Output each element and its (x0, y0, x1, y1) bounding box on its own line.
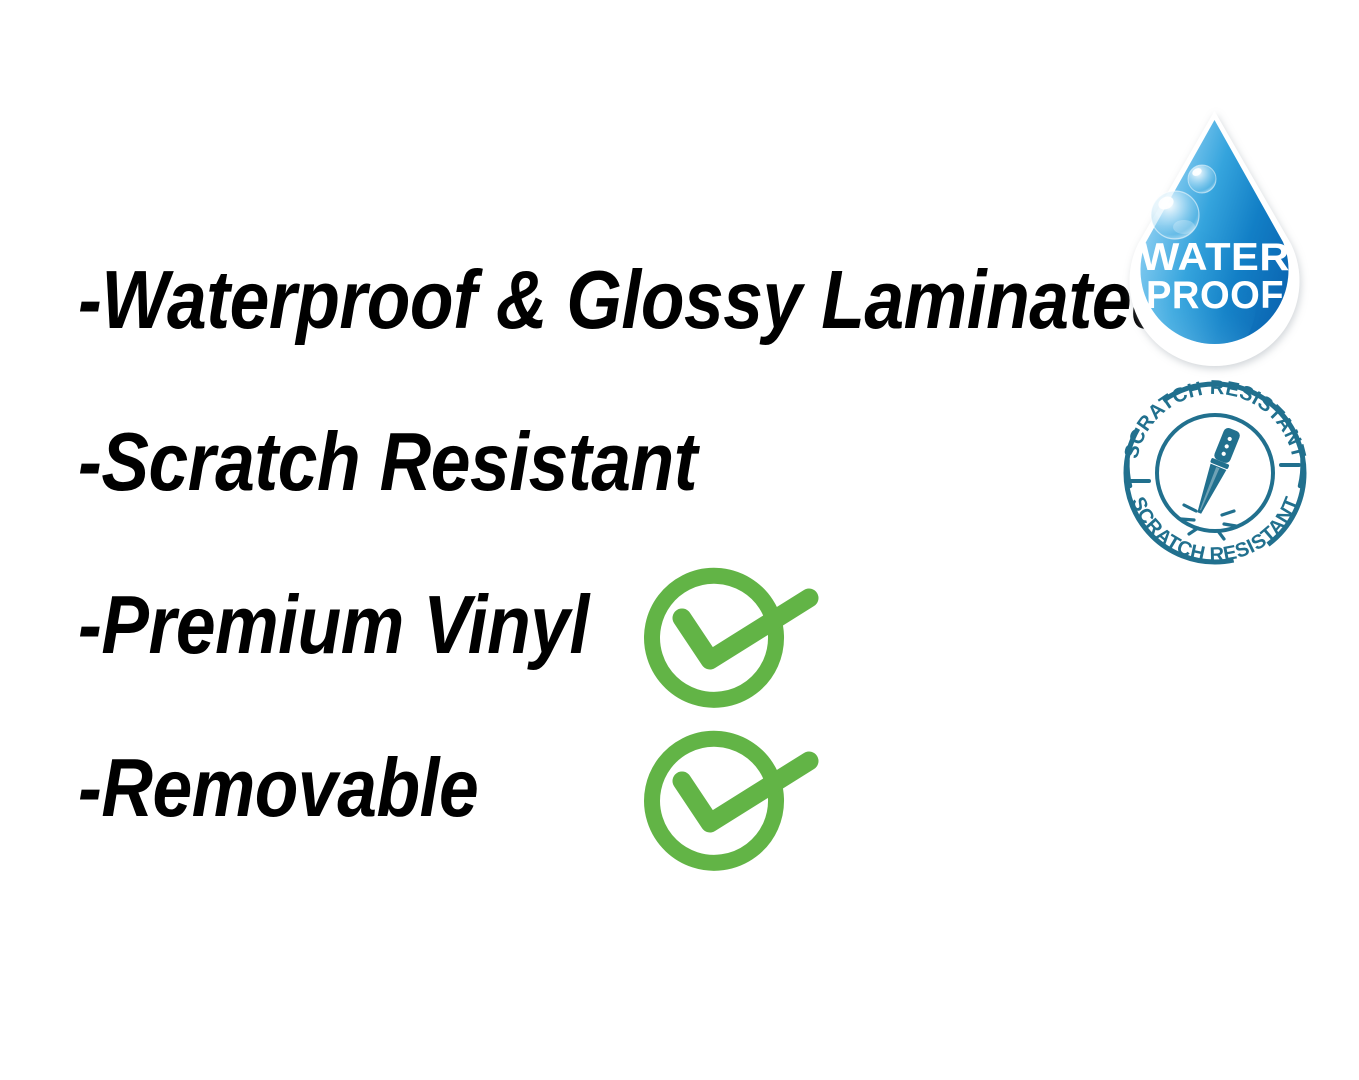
feature-row: -Removable (78, 746, 543, 829)
check-removable (637, 719, 822, 884)
water-bubble-small (1188, 165, 1216, 193)
check-tick (682, 598, 809, 660)
check-premium-vinyl (637, 556, 822, 721)
circle-check-icon (637, 719, 822, 884)
water-bubble-large (1151, 191, 1199, 239)
knife-stamp-icon: SCRATCH RESISTANT SCRATCH RESISTANT (1114, 382, 1316, 564)
feature-row: -Scratch Resistant (78, 420, 798, 503)
feature-label-premium-vinyl: -Premium Vinyl (78, 583, 589, 666)
feature-row: -Premium Vinyl (78, 583, 672, 666)
feature-label-removable: -Removable (78, 746, 478, 829)
circle-check-icon (637, 556, 822, 721)
feature-label-scratch-resistant: -Scratch Resistant (78, 420, 697, 503)
feature-list: -Waterproof & Glossy Laminated -Scratch … (0, 0, 1100, 1080)
check-tick (682, 761, 809, 823)
waterproof-line1: WATER (1140, 236, 1290, 279)
waterproof-badge: WATER PROOF (1112, 103, 1317, 356)
feature-label-waterproof-glossy-laminated: -Waterproof & Glossy Laminated (78, 258, 1174, 341)
waterproof-line2: PROOF (1146, 274, 1284, 317)
water-droplet-icon: WATER PROOF (1112, 103, 1317, 356)
scratch-marks (1181, 505, 1236, 539)
stamp-text-top: SCRATCH RESISTANT (1120, 377, 1309, 461)
scratch-resistant-badge: SCRATCH RESISTANT SCRATCH RESISTANT (1114, 382, 1316, 564)
feature-highlight-graphic: -Waterproof & Glossy Laminated -Scratch … (0, 0, 1359, 1080)
knife-icon (1191, 426, 1242, 517)
